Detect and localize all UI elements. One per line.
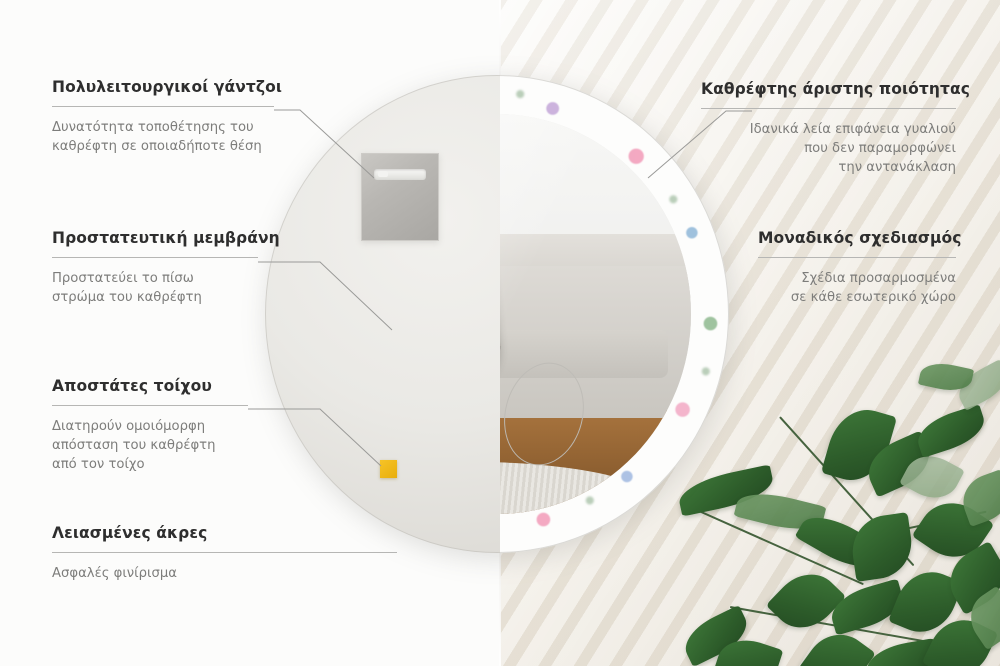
body-line: από τον τοίχο xyxy=(52,457,145,472)
body-line: που δεν παραμορφώνει xyxy=(804,141,956,156)
body-line: Ασφαλές φινίρισμα xyxy=(52,566,177,581)
callout-quality-title: Καθρέφτης άριστης ποιότητας xyxy=(701,80,956,99)
callout-hooks-rule xyxy=(52,106,274,107)
body-line: απόσταση του καθρέφτη xyxy=(52,438,215,453)
infographic-canvas: Πολυλειτουργικοί γάντζοι Δυνατότητα τοπο… xyxy=(0,0,1000,666)
callout-design-body: Σχέδια προσαρμοσμένα σε κάθε εσωτερικό χ… xyxy=(758,269,956,307)
mirror-product xyxy=(265,75,729,553)
body-line: καθρέφτη σε οποιαδήποτε θέση xyxy=(52,139,262,154)
callout-edges-rule xyxy=(52,552,397,553)
callout-quality: Καθρέφτης άριστης ποιότητας Ιδανικά λεία… xyxy=(701,80,956,177)
callout-design-title: Μοναδικός σχεδιασμός xyxy=(758,229,956,248)
hook-slot xyxy=(374,169,426,180)
callout-spacers: Αποστάτες τοίχου Διατηρούν ομοιόμορφη απ… xyxy=(52,377,282,474)
callout-design-rule xyxy=(758,257,956,258)
body-line: Ιδανικά λεία επιφάνεια γυαλιού xyxy=(750,122,956,137)
body-line: Δυνατότητα τοποθέτησης του xyxy=(52,120,254,135)
callout-spacers-rule xyxy=(52,405,248,406)
callout-edges: Λειασμένες άκρες Ασφαλές φινίρισμα xyxy=(52,524,288,583)
callout-edges-body: Ασφαλές φινίρισμα xyxy=(52,564,288,583)
wall-spacer xyxy=(380,460,397,478)
callout-quality-rule xyxy=(701,108,956,109)
callout-spacers-title: Αποστάτες τοίχου xyxy=(52,377,282,396)
wall-hook-plate xyxy=(361,153,439,241)
body-line: Σχέδια προσαρμοσμένα xyxy=(801,271,956,286)
callout-hooks-body: Δυνατότητα τοποθέτησης του καθρέφτη σε ο… xyxy=(52,118,287,156)
callout-hooks: Πολυλειτουργικοί γάντζοι Δυνατότητα τοπο… xyxy=(52,78,287,156)
callout-membrane-title: Προστατευτική μεμβράνη xyxy=(52,229,274,248)
body-line: Διατηρούν ομοιόμορφη xyxy=(52,419,205,434)
body-line: Προστατεύει το πίσω xyxy=(52,271,194,286)
callout-quality-body: Ιδανικά λεία επιφάνεια γυαλιού που δεν π… xyxy=(701,120,956,177)
body-line: στρώμα του καθρέφτη xyxy=(52,290,202,305)
body-line: σε κάθε εσωτερικό χώρο xyxy=(791,290,956,305)
callout-membrane-body: Προστατεύει το πίσω στρώμα του καθρέφτη xyxy=(52,269,274,307)
callout-membrane-rule xyxy=(52,257,258,258)
body-line: την αντανάκλαση xyxy=(838,160,956,175)
callout-spacers-body: Διατηρούν ομοιόμορφη απόσταση του καθρέφ… xyxy=(52,417,282,474)
callout-design: Μοναδικός σχεδιασμός Σχέδια προσαρμοσμέν… xyxy=(758,229,956,307)
callout-edges-title: Λειασμένες άκρες xyxy=(52,524,288,543)
callout-hooks-title: Πολυλειτουργικοί γάντζοι xyxy=(52,78,287,97)
callout-membrane: Προστατευτική μεμβράνη Προστατεύει το πί… xyxy=(52,229,274,307)
